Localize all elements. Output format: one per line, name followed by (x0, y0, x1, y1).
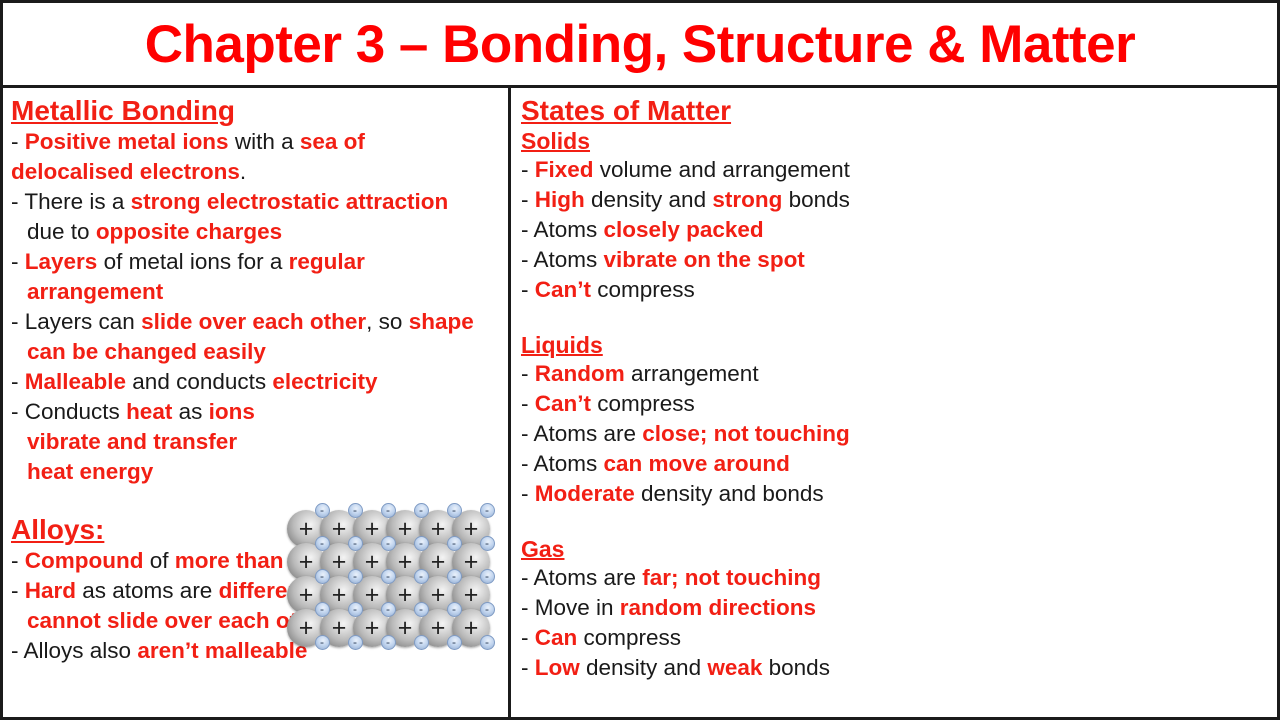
delocalised-electron: - (315, 536, 330, 551)
title-bar: Chapter 3 – Bonding, Structure & Matter (3, 3, 1277, 88)
heading-states-of-matter: States of Matter (521, 94, 1270, 127)
emphasis-text: regular (289, 249, 365, 274)
emphasis-text: heat energy (27, 459, 153, 484)
bullet-line: - Can’t compress (521, 389, 1270, 419)
delocalised-electron: - (414, 503, 429, 518)
delocalised-electron: - (480, 602, 495, 617)
plain-text: - (521, 361, 535, 386)
plain-text: - (11, 369, 25, 394)
emphasis-text: ions (209, 399, 255, 424)
emphasis-text: arrangement (27, 279, 163, 304)
emphasis-text: Layers (25, 249, 98, 274)
spacer (521, 509, 1270, 535)
plain-text: - (521, 625, 535, 650)
body-area: Metallic Bonding - Positive metal ions w… (3, 88, 1277, 717)
delocalised-electron: - (480, 635, 495, 650)
plain-text: - (11, 548, 25, 573)
bullet-line: - Random arrangement (521, 359, 1270, 389)
plain-text: compress (591, 391, 695, 416)
emphasis-text: can be changed easily (27, 339, 266, 364)
states-of-matter-sections: Solids- Fixed volume and arrangement- Hi… (521, 127, 1270, 683)
delocalised-electron: - (315, 503, 330, 518)
emphasis-text: sea of (300, 129, 365, 154)
plain-text: density and bonds (635, 481, 824, 506)
delocalised-electron: - (447, 635, 462, 650)
plain-text: compress (577, 625, 681, 650)
page-title: Chapter 3 – Bonding, Structure & Matter (145, 18, 1136, 71)
bullet-line: arrangement (11, 277, 504, 307)
emphasis-text: heat (126, 399, 172, 424)
metallic-bonding-bullets: - Positive metal ions with a sea ofdeloc… (11, 127, 504, 487)
emphasis-text: slide over each other (141, 309, 366, 334)
plain-text: - (11, 129, 25, 154)
delocalised-electron: - (447, 602, 462, 617)
plain-text: - Atoms are (521, 421, 642, 446)
emphasis-text: Moderate (535, 481, 635, 506)
emphasis-text: High (535, 187, 585, 212)
emphasis-text: delocalised electrons (11, 159, 240, 184)
plain-text: - (521, 391, 535, 416)
revision-poster: Chapter 3 – Bonding, Structure & Matter … (0, 0, 1280, 720)
plain-text: compress (591, 277, 695, 302)
emphasis-text: Can (535, 625, 578, 650)
bullet-line: - Layers can slide over each other, so s… (11, 307, 504, 337)
bullet-line: - Malleable and conducts electricity (11, 367, 504, 397)
delocalised-electron: - (348, 635, 363, 650)
plain-text: bonds (762, 655, 830, 680)
plain-text: density and (585, 187, 713, 212)
plain-text: bonds (782, 187, 850, 212)
delocalised-electron: - (480, 536, 495, 551)
bullet-line: - Atoms vibrate on the spot (521, 245, 1270, 275)
plain-text: density and (580, 655, 708, 680)
emphasis-text: strong electrostatic attraction (131, 189, 449, 214)
plain-text: - (521, 277, 535, 302)
delocalised-electron: - (381, 602, 396, 617)
plain-text: , so (366, 309, 409, 334)
bullet-line: vibrate and transfer (11, 427, 504, 457)
heading-metallic-bonding: Metallic Bonding (11, 94, 504, 127)
plain-text: - Conducts (11, 399, 126, 424)
plain-text: - (521, 157, 535, 182)
delocalised-electron: - (315, 635, 330, 650)
plain-text: - (521, 655, 535, 680)
delocalised-electron: - (447, 536, 462, 551)
emphasis-text: can move around (604, 451, 790, 476)
bullet-line: - Atoms can move around (521, 449, 1270, 479)
emphasis-text: far; not touching (642, 565, 821, 590)
plain-text: arrangement (625, 361, 759, 386)
spacer (521, 305, 1270, 331)
bullet-line: - Atoms closely packed (521, 215, 1270, 245)
plain-text: and conducts (126, 369, 272, 394)
emphasis-text: Positive metal ions (25, 129, 229, 154)
delocalised-electron: - (348, 503, 363, 518)
delocalised-electron: - (348, 602, 363, 617)
delocalised-electron: - (480, 569, 495, 584)
delocalised-electron: - (447, 569, 462, 584)
emphasis-text: shape (409, 309, 474, 334)
plain-text: - Atoms are (521, 565, 642, 590)
delocalised-electron: - (414, 536, 429, 551)
emphasis-text: Hard (25, 578, 76, 603)
delocalised-electron: - (414, 602, 429, 617)
plain-text: due to (27, 219, 96, 244)
plain-text: - There is a (11, 189, 131, 214)
plain-text: - Atoms (521, 451, 604, 476)
plain-text: - (11, 249, 25, 274)
emphasis-text: close; not touching (642, 421, 850, 446)
plain-text: - (521, 187, 535, 212)
emphasis-text: opposite charges (96, 219, 282, 244)
emphasis-text: Malleable (25, 369, 126, 394)
bullet-line: due to opposite charges (11, 217, 504, 247)
bullet-line: - Fixed volume and arrangement (521, 155, 1270, 185)
plain-text: of metal ions for a (97, 249, 288, 274)
emphasis-text: Random (535, 361, 625, 386)
bullet-line: - Layers of metal ions for a regular (11, 247, 504, 277)
bullet-line: - Low density and weak bonds (521, 653, 1270, 683)
emphasis-text: electricity (272, 369, 377, 394)
bullet-line: - Can’t compress (521, 275, 1270, 305)
emphasis-text: vibrate and transfer (27, 429, 237, 454)
delocalised-electron: - (381, 569, 396, 584)
bullet-line: can be changed easily (11, 337, 504, 367)
plain-text: - (521, 481, 535, 506)
bullet-line: - Atoms are close; not touching (521, 419, 1270, 449)
emphasis-text: Can’t (535, 277, 591, 302)
plain-text: - Layers can (11, 309, 141, 334)
plain-text: - Alloys also (11, 638, 137, 663)
bullet-line: - Can compress (521, 623, 1270, 653)
delocalised-electron: - (414, 635, 429, 650)
emphasis-text: aren’t malleable (137, 638, 307, 663)
bullet-line: heat energy (11, 457, 504, 487)
column-metallic-bonding: Metallic Bonding - Positive metal ions w… (3, 88, 511, 717)
emphasis-text: Can’t (535, 391, 591, 416)
emphasis-text: random directions (620, 595, 816, 620)
bullet-line: - There is a strong electrostatic attrac… (11, 187, 504, 217)
emphasis-text: weak (707, 655, 762, 680)
plain-text: of (143, 548, 174, 573)
emphasis-text: vibrate on the spot (604, 247, 805, 272)
delocalised-electron: - (315, 602, 330, 617)
delocalised-electron: - (480, 503, 495, 518)
plain-text: as atoms are (76, 578, 219, 603)
emphasis-text: closely packed (604, 217, 764, 242)
delocalised-electron: - (381, 503, 396, 518)
plain-text: with a (229, 129, 300, 154)
plain-text: . (240, 159, 246, 184)
plain-text: volume and arrangement (594, 157, 850, 182)
emphasis-text: Fixed (535, 157, 594, 182)
bullet-line: - Atoms are far; not touching (521, 563, 1270, 593)
delocalised-electron: - (381, 635, 396, 650)
delocalised-electron: - (447, 503, 462, 518)
delocalised-electron: - (348, 536, 363, 551)
bullet-line: - Positive metal ions with a sea of (11, 127, 504, 157)
plain-text: - Move in (521, 595, 620, 620)
bullet-line: - Move in random directions (521, 593, 1270, 623)
bullet-line: delocalised electrons. (11, 157, 504, 187)
plain-text: - Atoms (521, 217, 604, 242)
subheading-gas: Gas (521, 535, 1270, 563)
delocalised-electron: - (414, 569, 429, 584)
plain-text: as (172, 399, 208, 424)
emphasis-text: Low (535, 655, 580, 680)
plain-text: - (11, 578, 25, 603)
delocalised-electron: - (348, 569, 363, 584)
delocalised-electron: - (381, 536, 396, 551)
subheading-solids: Solids (521, 127, 1270, 155)
bullet-line: - Moderate density and bonds (521, 479, 1270, 509)
bullet-line: - Conducts heat as ions (11, 397, 504, 427)
column-states-of-matter: States of Matter Solids- Fixed volume an… (511, 88, 1274, 717)
bullet-line: - High density and strong bonds (521, 185, 1270, 215)
metallic-lattice-diagram: ------------------------------++++++++++… (287, 506, 491, 646)
emphasis-text: more than (175, 548, 284, 573)
emphasis-text: Compound (25, 548, 144, 573)
plain-text: - Atoms (521, 247, 604, 272)
subheading-liquids: Liquids (521, 331, 1270, 359)
delocalised-electron: - (315, 569, 330, 584)
emphasis-text: strong (712, 187, 782, 212)
